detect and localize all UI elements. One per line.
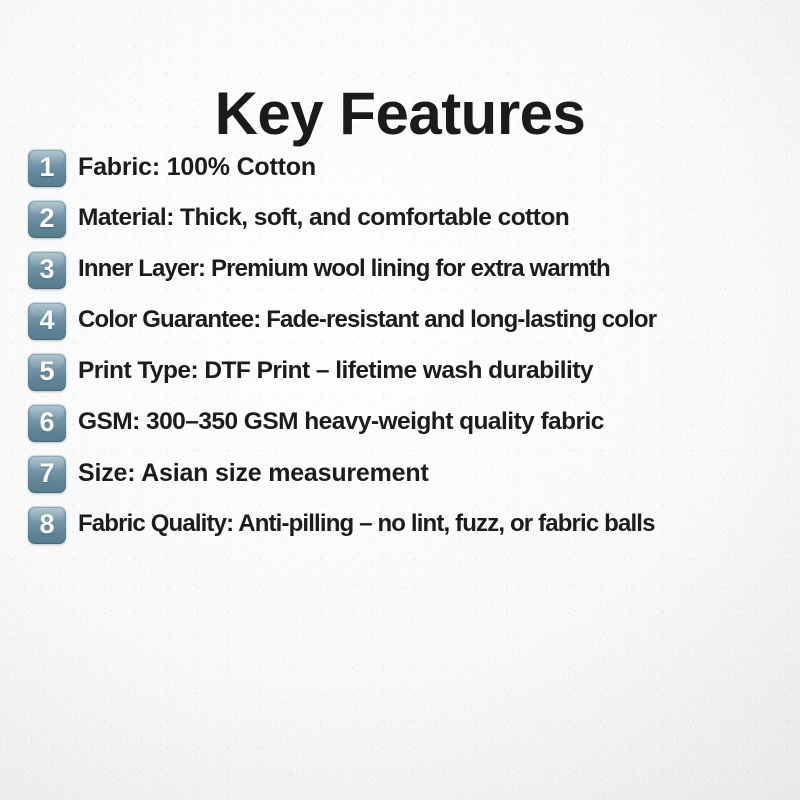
feature-text-6: GSM: 300–350 GSM heavy-weight quality fa…	[78, 409, 604, 436]
feature-text-3: Inner Layer: Premium wool lining for ext…	[78, 256, 610, 282]
list-item: 1 Fabric: 100% Cotton	[0, 142, 800, 193]
badge-number-label: 4	[39, 307, 54, 334]
key-features-poster: Key Features 1 Fabric: 100% Cotton 2 Mat…	[0, 0, 800, 800]
badge-number-label: 5	[39, 358, 54, 385]
list-item: 7 Size: Asian size measurement	[0, 448, 800, 499]
feature-list: 1 Fabric: 100% Cotton 2 Material: Thick,…	[0, 142, 800, 550]
number-badge-8: 8	[28, 506, 66, 544]
list-item: 6 GSM: 300–350 GSM heavy-weight quality …	[0, 397, 800, 448]
badge-number-label: 1	[39, 154, 54, 181]
number-badge-2: 2	[28, 200, 66, 238]
list-item: 4 Color Guarantee: Fade-resistant and lo…	[0, 295, 800, 346]
page-title: Key Features	[0, 84, 800, 144]
feature-text-2: Material: Thick, soft, and comfortable c…	[78, 205, 569, 232]
number-badge-1: 1	[28, 149, 66, 187]
number-badge-5: 5	[28, 353, 66, 391]
feature-text-7: Size: Asian size measurement	[78, 460, 429, 488]
badge-number-label: 3	[39, 256, 54, 283]
badge-number-label: 6	[39, 409, 54, 436]
feature-text-5: Print Type: DTF Print – lifetime wash du…	[78, 358, 593, 385]
badge-number-label: 2	[39, 205, 54, 232]
badge-number-label: 8	[39, 511, 54, 538]
feature-text-1: Fabric: 100% Cotton	[78, 154, 316, 182]
number-badge-3: 3	[28, 251, 66, 289]
number-badge-4: 4	[28, 302, 66, 340]
list-item: 8 Fabric Quality: Anti-pilling – no lint…	[0, 499, 800, 550]
list-item: 5 Print Type: DTF Print – lifetime wash …	[0, 346, 800, 397]
list-item: 2 Material: Thick, soft, and comfortable…	[0, 193, 800, 244]
feature-text-4: Color Guarantee: Fade-resistant and long…	[78, 307, 656, 333]
list-item: 3 Inner Layer: Premium wool lining for e…	[0, 244, 800, 295]
number-badge-7: 7	[28, 455, 66, 493]
number-badge-6: 6	[28, 404, 66, 442]
badge-number-label: 7	[39, 460, 54, 487]
feature-text-8: Fabric Quality: Anti-pilling – no lint, …	[78, 511, 655, 537]
